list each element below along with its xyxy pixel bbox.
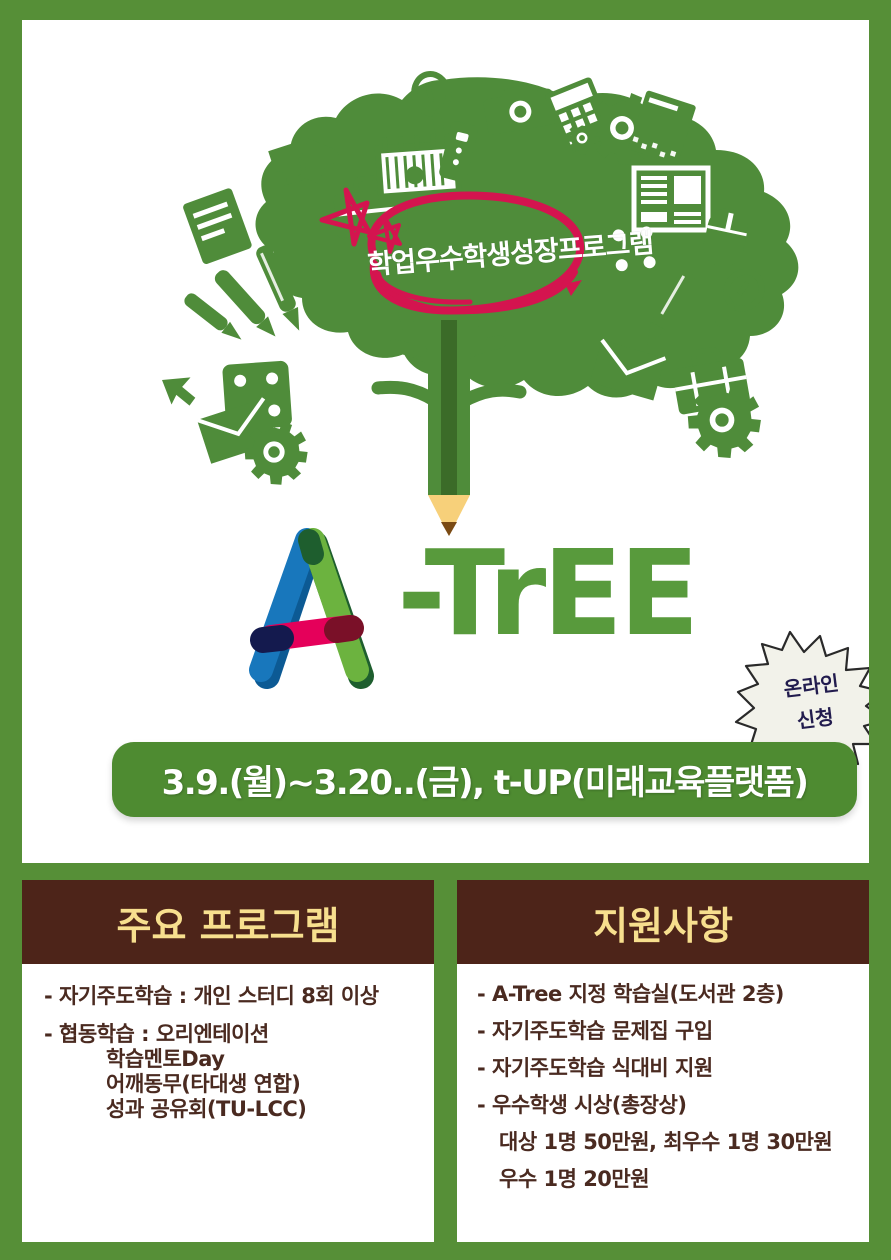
- program-item: 어깨동무(타대생 연합): [44, 1074, 420, 1095]
- circle-annotation-layer: [22, 20, 869, 540]
- a-tree-wordmark: -TrEE: [237, 520, 767, 700]
- panel-main-programs: 주요 프로그램 - 자기주도학습 : 개인 스터디 8회 이상 - 협동학습 :…: [22, 880, 434, 1242]
- panel-body-main-programs: - 자기주도학습 : 개인 스터디 8회 이상 - 협동학습 : 오리엔테이션 …: [22, 964, 434, 1147]
- star-icon: [322, 190, 369, 244]
- program-item: - 협동학습 : 오리엔테이션: [44, 1024, 420, 1045]
- panel-support-items: 지원사항 - A-Tree 지정 학습실(도서관 2층) - 자기주도학습 문제…: [457, 880, 869, 1242]
- circle-highlight: [371, 195, 580, 311]
- panel-body-support-items: - A-Tree 지정 학습실(도서관 2층) - 자기주도학습 문제집 구입 …: [457, 964, 869, 1214]
- a-tree-wordmark-text: -TrEE: [397, 534, 696, 652]
- panel-header-support-items: 지원사항: [457, 880, 869, 964]
- program-item: 학습멘토Day: [44, 1049, 420, 1070]
- date-banner: 3.9.(월)~3.20..(금), t-UP(미래교육플랫폼): [112, 742, 857, 817]
- hero-card: 학업우수학생성장프로그램 -TrEE: [22, 20, 869, 863]
- support-item: - A-Tree 지정 학습실(도서관 2층): [477, 984, 861, 1005]
- support-item: - 자기주도학습 문제집 구입: [477, 1021, 861, 1042]
- support-item-detail: 대상 1명 50만원, 최우수 1명 30만원: [477, 1132, 861, 1153]
- panel-title-main-programs: 주요 프로그램: [117, 895, 340, 950]
- panel-header-main-programs: 주요 프로그램: [22, 880, 434, 964]
- support-item: - 우수학생 시상(총장상): [477, 1095, 861, 1116]
- support-item-detail: 우수 1명 20만원: [477, 1169, 861, 1190]
- program-item: - 자기주도학습 : 개인 스터디 8회 이상: [44, 986, 420, 1007]
- date-banner-text: 3.9.(월)~3.20..(금), t-UP(미래교육플랫폼): [162, 755, 808, 804]
- support-item: - 자기주도학습 식대비 지원: [477, 1058, 861, 1079]
- panel-title-support-items: 지원사항: [593, 895, 733, 950]
- a-logo-icon: [237, 520, 397, 695]
- poster-root: 학업우수학생성장프로그램 -TrEE: [0, 0, 891, 1260]
- program-item: 성과 공유회(TU-LCC): [44, 1099, 420, 1120]
